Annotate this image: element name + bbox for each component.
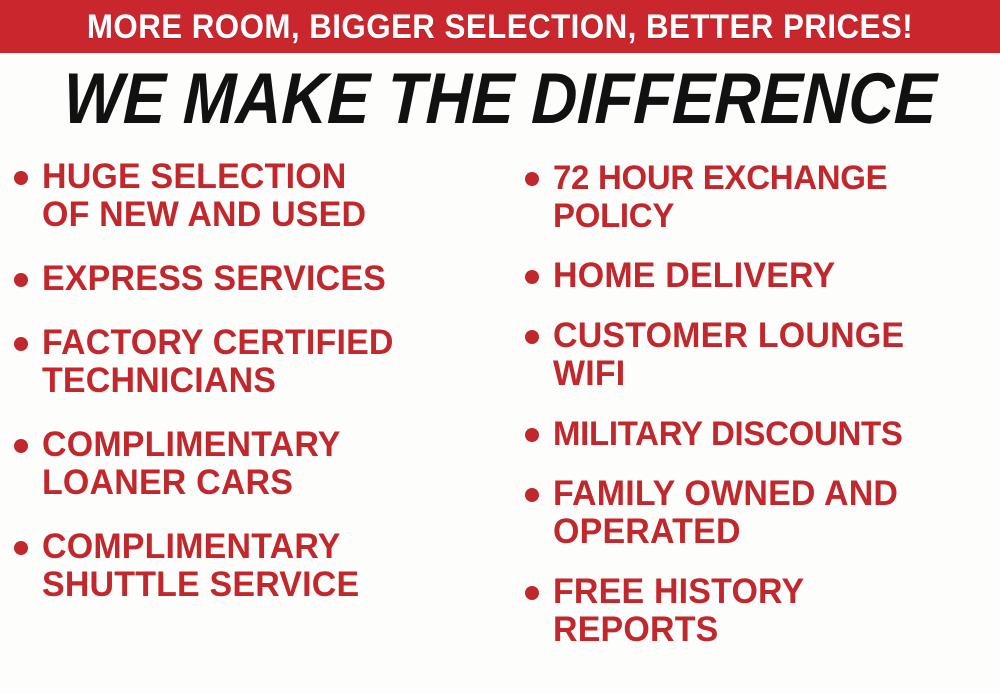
bullet-icon — [525, 270, 539, 284]
promo-banner: MORE ROOM, BIGGER SELECTION, BETTER PRIC… — [0, 0, 1000, 53]
list-item-label: COMPLIMENTARY LOANER CARS — [42, 426, 491, 502]
bullet-icon — [14, 171, 28, 185]
list-item-label: EXPRESS SERVICES — [42, 260, 491, 298]
list-item: FAMILY OWNED AND OPERATED — [525, 475, 1000, 551]
list-item: 72 HOUR EXCHANGE POLICY — [525, 159, 1000, 235]
bullet-icon — [14, 439, 28, 453]
bullet-icon — [14, 273, 28, 287]
list-item-label: FREE HISTORY REPORTS — [553, 573, 987, 649]
list-item: FREE HISTORY REPORTS — [525, 573, 1000, 649]
list-item: MILITARY DISCOUNTS — [525, 415, 1000, 453]
list-item: EXPRESS SERVICES — [14, 260, 505, 298]
list-item-label: FAMILY OWNED AND OPERATED — [553, 475, 987, 551]
list-item-label: 72 HOUR EXCHANGE POLICY — [553, 159, 987, 235]
list-item-label: HUGE SELECTION OF NEW AND USED — [42, 158, 491, 234]
list-item-label: FACTORY CERTIFIED TECHNICIANS — [42, 324, 491, 400]
list-item: HOME DELIVERY — [525, 257, 1000, 295]
list-item-label: HOME DELIVERY — [553, 257, 987, 295]
bullet-icon — [14, 541, 28, 555]
list-item: FACTORY CERTIFIED TECHNICIANS — [14, 324, 505, 400]
promo-banner-text: MORE ROOM, BIGGER SELECTION, BETTER PRIC… — [87, 10, 913, 44]
list-item-label: MILITARY DISCOUNTS — [553, 415, 987, 453]
list-item: CUSTOMER LOUNGE WIFI — [525, 317, 1000, 393]
feature-column-right: 72 HOUR EXCHANGE POLICY HOME DELIVERY CU… — [505, 150, 1000, 671]
list-item: COMPLIMENTARY LOANER CARS — [14, 426, 505, 502]
page-title: WE MAKE THE DIFFERENCE — [0, 62, 1000, 136]
bullet-icon — [525, 172, 539, 186]
list-item: HUGE SELECTION OF NEW AND USED — [14, 158, 505, 234]
feature-column-left: HUGE SELECTION OF NEW AND USED EXPRESS S… — [0, 150, 505, 630]
bullet-icon — [525, 586, 539, 600]
list-item-label: CUSTOMER LOUNGE WIFI — [553, 317, 987, 393]
bullet-icon — [14, 337, 28, 351]
bullet-icon — [525, 488, 539, 502]
list-item-label: COMPLIMENTARY SHUTTLE SERVICE — [42, 528, 491, 604]
bullet-icon — [525, 428, 539, 442]
list-item: COMPLIMENTARY SHUTTLE SERVICE — [14, 528, 505, 604]
page-title-text: WE MAKE THE DIFFERENCE — [62, 62, 937, 136]
bullet-icon — [525, 330, 539, 344]
feature-list: HUGE SELECTION OF NEW AND USED EXPRESS S… — [0, 150, 1000, 694]
